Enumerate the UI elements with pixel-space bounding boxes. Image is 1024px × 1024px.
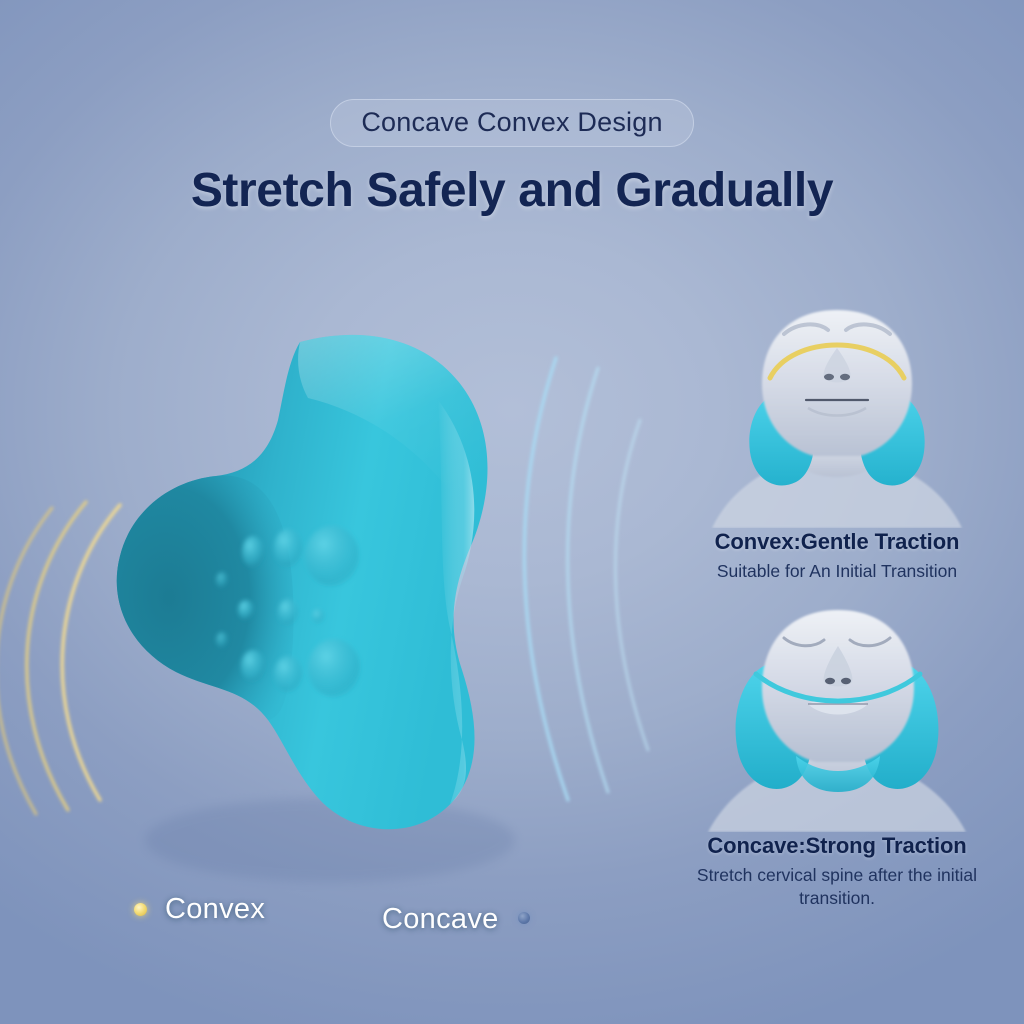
neck-pillow [117,335,488,829]
concave-label: Concave [382,903,499,936]
face-convex-figure [672,296,1002,528]
badge-container: Concave Convex Design [0,99,1024,147]
panel-concave-title: Concave:Strong Traction [672,833,1002,859]
panel-convex-subtitle: Suitable for An Initial Transition [672,560,1002,583]
page-title: Stretch Safely and Gradually [0,163,1024,218]
wave-arcs-left [0,502,120,814]
panel-concave: Concave:Strong Traction Stretch cervical… [672,600,1002,910]
convex-label: Convex [165,893,265,926]
wave-arcs-right [524,358,648,800]
design-badge: Concave Convex Design [330,99,693,147]
infographic-canvas: Concave Convex Design Stretch Safely and… [0,0,1024,1024]
panel-concave-subtitle: Stretch cervical spine after the initial… [672,864,1002,910]
panel-convex-title: Convex:Gentle Traction [672,529,1002,555]
convex-marker-dot [134,903,147,916]
product-illustration [0,280,700,900]
product-scene: Convex Concave [0,280,700,900]
panel-convex: Convex:Gentle Traction Suitable for An I… [672,296,1002,583]
concave-marker-dot [518,912,530,924]
face-concave-figure [672,600,1002,832]
